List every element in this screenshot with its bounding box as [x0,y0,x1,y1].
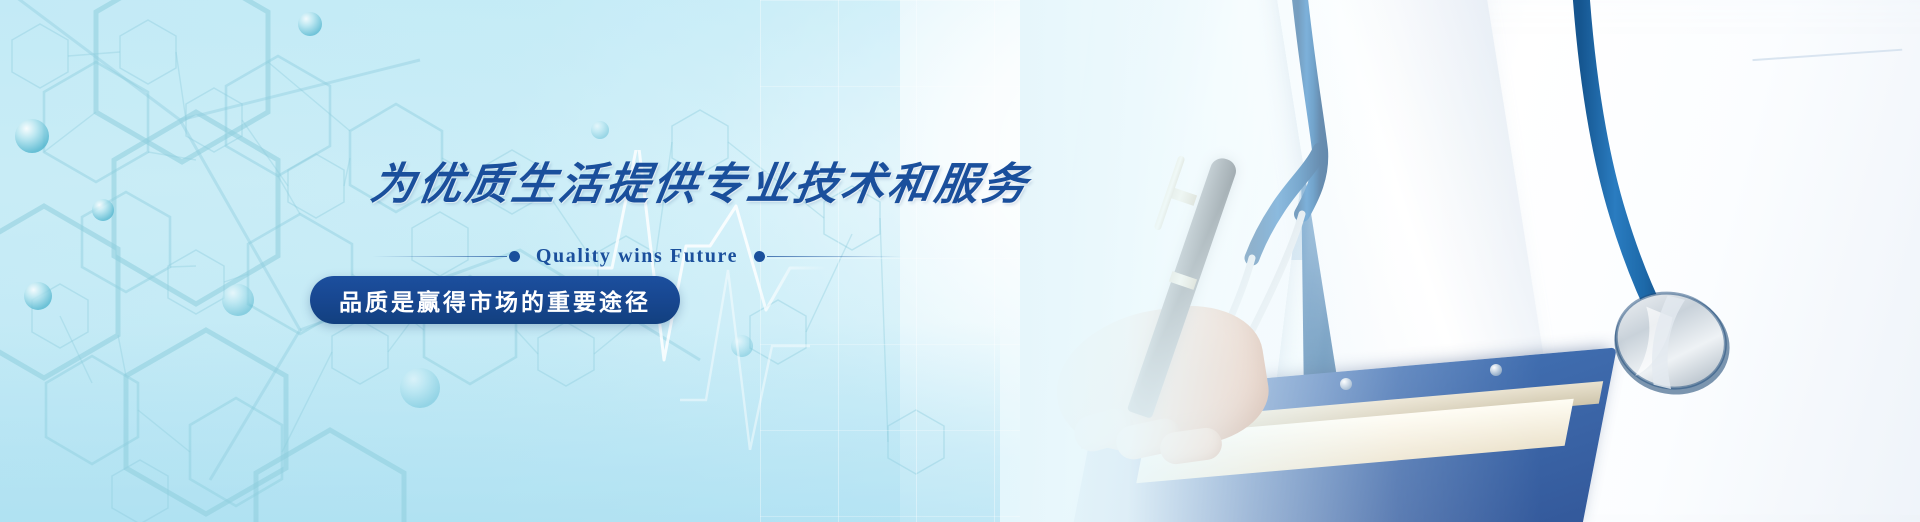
tagline-row: Quality wins Future [372,245,902,268]
tagline-rule-left [372,256,507,257]
tagline-dot-right [754,251,765,262]
banner-content: 为优质生活提供专业技术和服务 Quality wins Future 品质是赢得… [0,0,1920,522]
tagline-english: Quality wins Future [522,245,752,268]
tagline-rule-right [767,256,902,257]
medical-hero-banner: 为优质生活提供专业技术和服务 Quality wins Future 品质是赢得… [0,0,1920,522]
slogan-pill[interactable]: 品质是赢得市场的重要途径 [310,276,680,324]
slogan-pill-label: 品质是赢得市场的重要途径 [339,283,651,317]
tagline-dot-left [509,251,520,262]
banner-headline: 为优质生活提供专业技术和服务 [367,148,1035,212]
